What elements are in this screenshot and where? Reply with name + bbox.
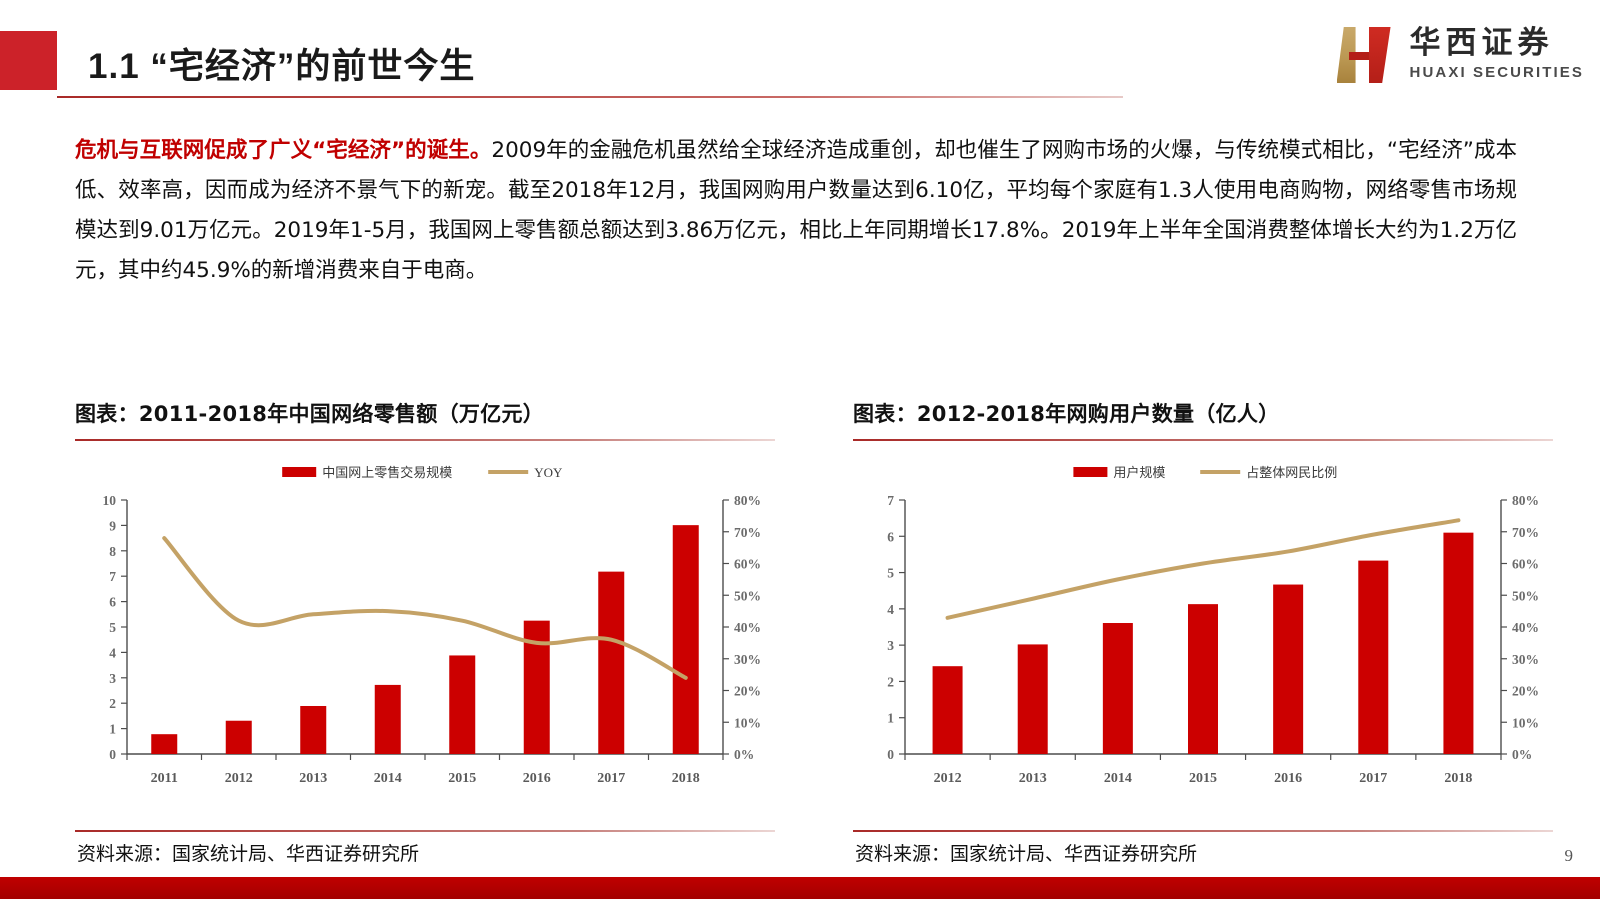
header-accent-block — [0, 31, 57, 90]
slide: 1.1 “宅经济”的前世今生 华西证券 HUAXI SECURITIES 危机与… — [0, 0, 1600, 899]
svg-text:2017: 2017 — [1359, 771, 1387, 786]
bar — [375, 685, 401, 754]
svg-text:1: 1 — [109, 722, 116, 737]
bar — [1443, 533, 1473, 754]
svg-text:9: 9 — [109, 518, 116, 533]
company-logo: 华西证券 HUAXI SECURITIES — [1335, 22, 1584, 88]
svg-text:2016: 2016 — [523, 771, 551, 786]
svg-text:60%: 60% — [734, 557, 761, 572]
svg-text:20%: 20% — [1512, 684, 1539, 699]
page-number: 9 — [1565, 846, 1574, 866]
svg-text:2011: 2011 — [151, 771, 178, 786]
svg-text:占整体网民比例: 占整体网民比例 — [1246, 465, 1337, 480]
svg-text:2: 2 — [109, 696, 116, 711]
svg-text:2017: 2017 — [597, 771, 625, 786]
svg-text:2012: 2012 — [225, 771, 253, 786]
chart-canvas-retail: 中国网上零售交易规模YOY0123456789100%10%20%30%40%5… — [75, 454, 775, 804]
svg-text:7: 7 — [887, 493, 894, 508]
bar — [226, 721, 252, 754]
svg-text:2012: 2012 — [934, 771, 962, 786]
chart-panel-users: 图表：2012-2018年网购用户数量（亿人） 用户规模占整体网民比例01234… — [853, 398, 1553, 868]
svg-text:0%: 0% — [1512, 747, 1532, 762]
bar — [1273, 585, 1303, 754]
svg-text:30%: 30% — [734, 652, 761, 667]
svg-text:40%: 40% — [1512, 620, 1539, 635]
svg-text:50%: 50% — [734, 588, 761, 603]
svg-text:2013: 2013 — [1019, 771, 1047, 786]
svg-text:2015: 2015 — [448, 771, 476, 786]
svg-text:2018: 2018 — [1444, 771, 1472, 786]
svg-text:5: 5 — [109, 620, 116, 635]
bar — [449, 655, 475, 754]
svg-text:5: 5 — [887, 566, 894, 581]
bar — [151, 734, 177, 754]
svg-text:2014: 2014 — [374, 771, 402, 786]
chart-source-users: 资料来源：国家统计局、华西证券研究所 — [855, 839, 1197, 866]
svg-text:1: 1 — [887, 711, 894, 726]
svg-text:2: 2 — [887, 674, 894, 689]
body-paragraph: 危机与互联网促成了广义“宅经济”的诞生。2009年的金融危机虽然给全球经济造成重… — [75, 131, 1517, 291]
bar — [300, 706, 326, 754]
bar — [673, 525, 699, 754]
paragraph-lead: 危机与互联网促成了广义“宅经济”的诞生。 — [75, 138, 491, 163]
bar — [1018, 644, 1048, 754]
svg-text:10: 10 — [103, 493, 117, 508]
svg-text:3: 3 — [887, 638, 894, 653]
bar — [1358, 561, 1388, 754]
svg-text:2014: 2014 — [1104, 771, 1132, 786]
svg-text:3: 3 — [109, 671, 116, 686]
svg-text:40%: 40% — [734, 620, 761, 635]
svg-text:80%: 80% — [734, 493, 761, 508]
svg-text:20%: 20% — [734, 684, 761, 699]
svg-text:YOY: YOY — [534, 465, 563, 480]
users-bar-line-chart: 用户规模占整体网民比例012345670%10%20%30%40%50%60%7… — [853, 454, 1553, 804]
svg-text:10%: 10% — [734, 715, 761, 730]
logo-name-en: HUAXI SECURITIES — [1410, 63, 1584, 83]
svg-text:70%: 70% — [734, 525, 761, 540]
svg-text:2015: 2015 — [1189, 771, 1217, 786]
bar — [1188, 604, 1218, 754]
svg-text:30%: 30% — [1512, 652, 1539, 667]
chart-panel-retail: 图表：2011-2018年中国网络零售额（万亿元） 中国网上零售交易规模YOY0… — [75, 398, 775, 868]
huaxi-h-mark-icon — [1335, 25, 1397, 85]
svg-text:2018: 2018 — [672, 771, 700, 786]
svg-text:70%: 70% — [1512, 525, 1539, 540]
svg-text:80%: 80% — [1512, 493, 1539, 508]
svg-text:2016: 2016 — [1274, 771, 1302, 786]
svg-text:60%: 60% — [1512, 557, 1539, 572]
bar — [1103, 623, 1133, 754]
chart-title-divider — [853, 439, 1553, 441]
bar — [933, 666, 963, 754]
chart-title-divider — [75, 439, 775, 441]
bar — [598, 572, 624, 754]
svg-text:2013: 2013 — [299, 771, 327, 786]
svg-text:中国网上零售交易规模: 中国网上零售交易规模 — [322, 465, 452, 480]
svg-text:0: 0 — [109, 747, 116, 762]
footer-bar — [0, 877, 1600, 899]
chart-title-retail: 图表：2011-2018年中国网络零售额（万亿元） — [75, 398, 775, 428]
svg-text:8: 8 — [109, 544, 116, 559]
svg-text:0: 0 — [887, 747, 894, 762]
svg-text:0%: 0% — [734, 747, 754, 762]
svg-text:4: 4 — [109, 645, 116, 660]
header-divider — [57, 96, 1123, 98]
svg-text:50%: 50% — [1512, 588, 1539, 603]
chart-title-users: 图表：2012-2018年网购用户数量（亿人） — [853, 398, 1553, 428]
logo-name-cn: 华西证券 — [1410, 27, 1584, 60]
svg-text:10%: 10% — [1512, 715, 1539, 730]
page-title: 1.1 “宅经济”的前世今生 — [88, 38, 475, 89]
retail-bar-line-chart: 中国网上零售交易规模YOY0123456789100%10%20%30%40%5… — [75, 454, 775, 804]
chart-source-retail: 资料来源：国家统计局、华西证券研究所 — [77, 839, 419, 866]
svg-text:6: 6 — [109, 595, 116, 610]
chart-footer-divider — [75, 830, 775, 832]
svg-text:4: 4 — [887, 602, 894, 617]
chart-footer-divider — [853, 830, 1553, 832]
svg-text:6: 6 — [887, 529, 894, 544]
svg-text:7: 7 — [109, 569, 116, 584]
svg-text:用户规模: 用户规模 — [1113, 465, 1165, 480]
chart-canvas-users: 用户规模占整体网民比例012345670%10%20%30%40%50%60%7… — [853, 454, 1553, 804]
